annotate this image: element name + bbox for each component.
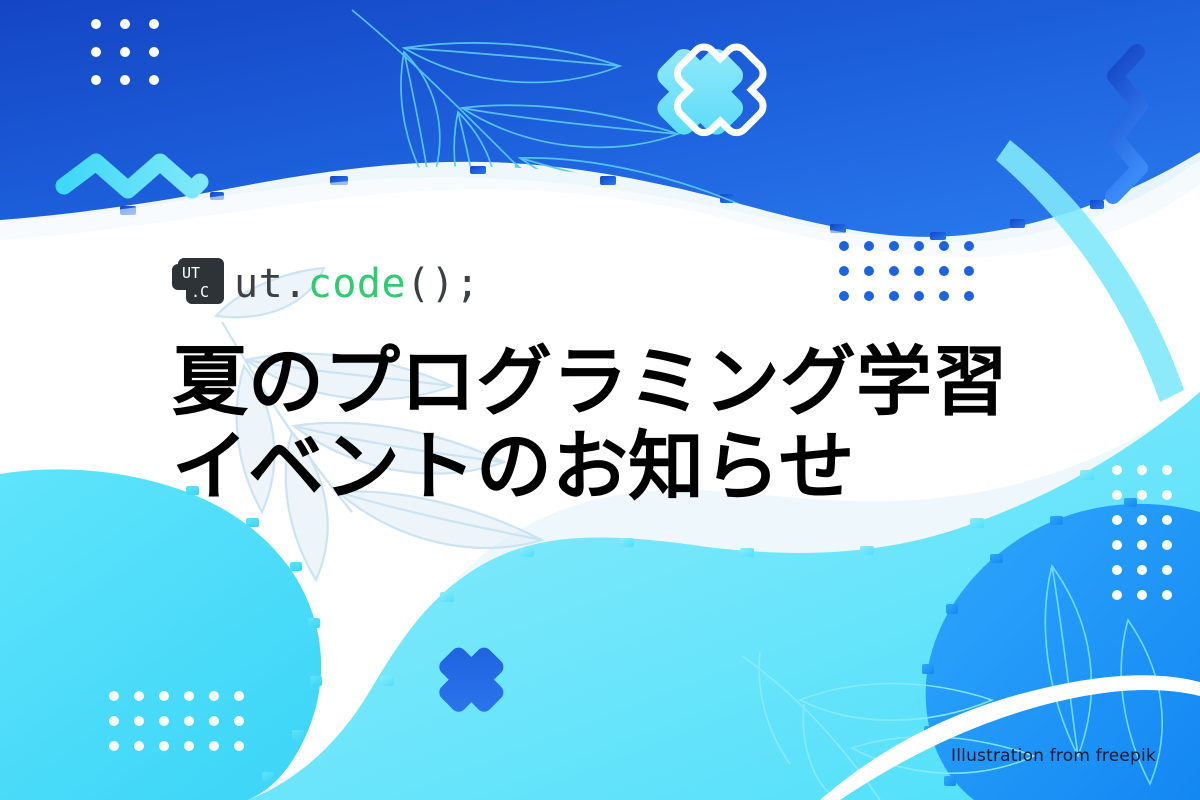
- wordmark-highlight: code: [308, 264, 406, 304]
- mark-top-text: UT: [182, 264, 200, 282]
- poster-canvas: UT .C ut.code(); 夏のプログラミング学習 イベントのお知らせ I…: [0, 0, 1200, 800]
- page-title: 夏のプログラミング学習 イベントのお知らせ: [172, 339, 1072, 509]
- title-line-2: イベントのお知らせ: [172, 424, 1072, 509]
- utcode-mark-icon: UT .C: [172, 258, 224, 310]
- title-line-1: 夏のプログラミング学習: [172, 339, 1072, 424]
- brand-logo[interactable]: UT .C ut.code();: [172, 255, 1072, 313]
- brand-wordmark: ut.code();: [234, 264, 480, 304]
- poster-content: UT .C ut.code(); 夏のプログラミング学習 イベントのお知らせ: [172, 255, 1072, 560]
- wordmark-suffix: ();: [406, 264, 480, 304]
- illustration-credit: Illustration from freepik: [951, 746, 1156, 766]
- mark-bottom-text: .C: [191, 283, 209, 301]
- wordmark-prefix: ut.: [234, 264, 308, 304]
